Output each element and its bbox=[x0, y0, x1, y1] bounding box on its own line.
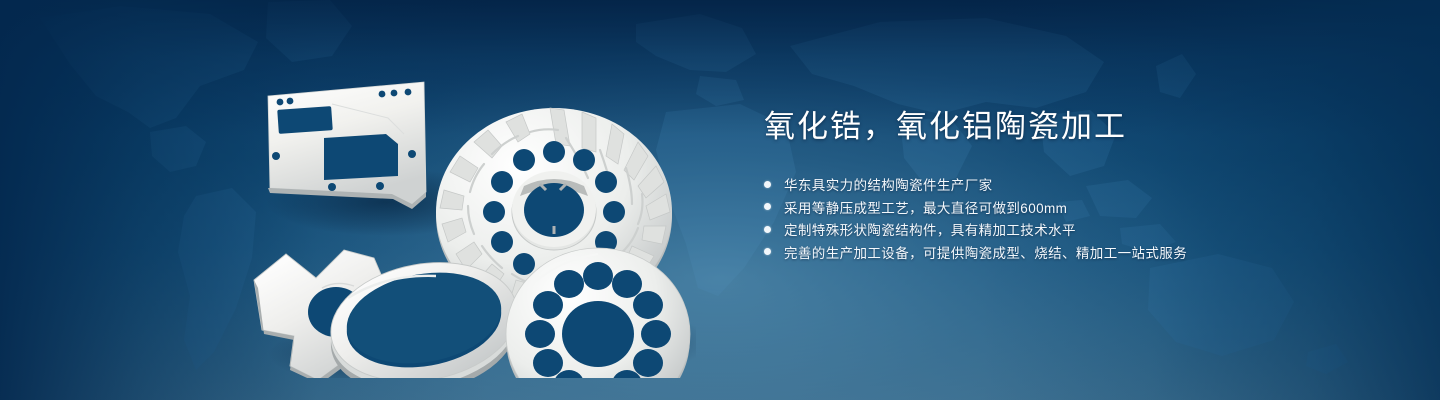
bullet-dot-icon bbox=[764, 226, 771, 233]
promo-banner: 氧化锆，氧化铝陶瓷加工 华东具实力的结构陶瓷件生产厂家 采用等静压成型工艺，最大… bbox=[0, 0, 1440, 400]
list-item-label: 定制特殊形状陶瓷结构件，具有精加工技术水平 bbox=[784, 219, 1076, 239]
bullet-dot-icon bbox=[764, 248, 771, 255]
list-item: 完善的生产加工设备，可提供陶瓷成型、烧结、精加工一站式服务 bbox=[764, 240, 1364, 263]
banner-copy: 氧化锆，氧化铝陶瓷加工 华东具实力的结构陶瓷件生产厂家 采用等静压成型工艺，最大… bbox=[764, 108, 1364, 263]
list-item-label: 华东具实力的结构陶瓷件生产厂家 bbox=[784, 174, 993, 194]
page-title: 氧化锆，氧化铝陶瓷加工 bbox=[764, 108, 1364, 147]
list-item-label: 采用等静压成型工艺，最大直径可做到600mm bbox=[784, 197, 1067, 217]
list-item: 定制特殊形状陶瓷结构件，具有精加工技术水平 bbox=[764, 218, 1364, 241]
list-item: 华东具实力的结构陶瓷件生产厂家 bbox=[764, 173, 1364, 196]
list-item: 采用等静压成型工艺，最大直径可做到600mm bbox=[764, 195, 1364, 218]
bullet-dot-icon bbox=[764, 203, 771, 210]
bullet-dot-icon bbox=[764, 181, 771, 188]
ceramic-flat-plate-with-cutouts bbox=[268, 82, 426, 209]
list-item-label: 完善的生产加工设备，可提供陶瓷成型、烧结、精加工一站式服务 bbox=[784, 242, 1187, 262]
feature-list: 华东具实力的结构陶瓷件生产厂家 采用等静压成型工艺，最大直径可做到600mm 定… bbox=[764, 173, 1364, 263]
ceramic-products-photo bbox=[236, 42, 696, 378]
